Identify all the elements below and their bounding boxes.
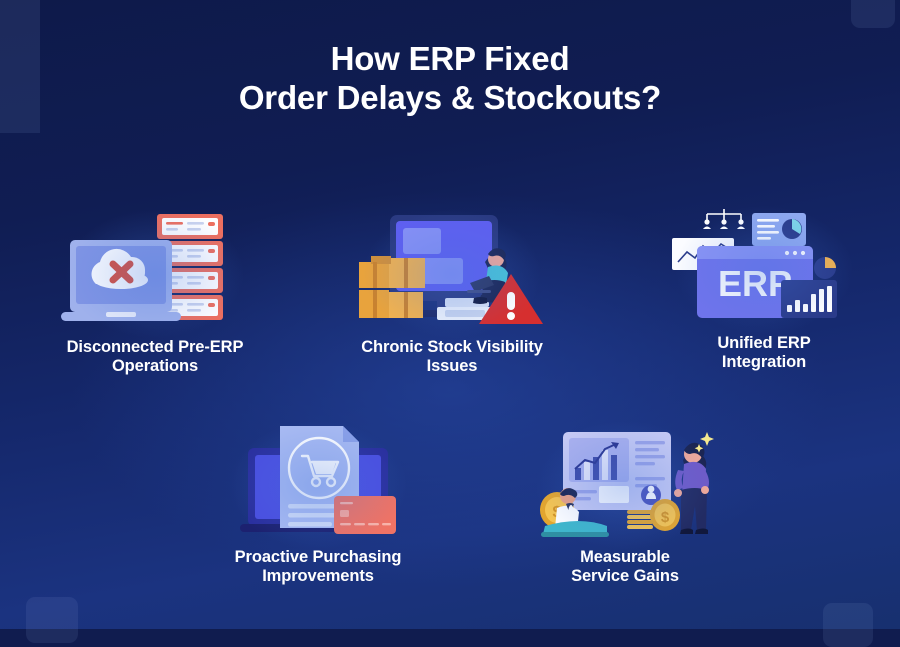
card-label: Disconnected Pre-ERP Operations bbox=[30, 338, 280, 377]
card-label: Proactive Purchasing Improvements bbox=[193, 548, 443, 587]
laptop-cloud-error-server-stack-icon bbox=[60, 212, 250, 332]
page-title: How ERP Fixed Order Delays & Stockouts? bbox=[0, 40, 900, 118]
erp-window-text: ERP bbox=[718, 263, 792, 304]
sparkle-icon bbox=[695, 432, 714, 453]
page-title-line-2: Order Delays & Stockouts? bbox=[0, 79, 900, 118]
dashboard-growth-chart-coins-people-icon: $ $ bbox=[535, 424, 715, 542]
standing-woman-icon bbox=[674, 443, 709, 534]
monitor-boxes-warning-icon bbox=[357, 212, 547, 332]
infographic-canvas: How ERP Fixed Order Delays & Stockouts? bbox=[0, 0, 900, 629]
card-disconnected-pre-erp-operations[interactable]: Disconnected Pre-ERP Operations bbox=[30, 212, 280, 377]
dashboard-panel-icon bbox=[563, 432, 671, 510]
org-chart-icon bbox=[703, 209, 745, 229]
decorative-corner-shape-bottom-right bbox=[823, 603, 873, 647]
card-measurable-service-gains[interactable]: $ $ bbox=[500, 424, 750, 587]
pie-accent-icon bbox=[814, 257, 836, 279]
credit-card-icon bbox=[334, 496, 396, 534]
card-label: Chronic Stock Visibility Issues bbox=[327, 338, 577, 377]
laptop-cloud-error-icon bbox=[61, 240, 181, 321]
svg-text:$: $ bbox=[661, 509, 670, 526]
card-label: Unified ERP Integration bbox=[639, 334, 889, 373]
coin-stack-icon bbox=[627, 510, 653, 529]
pie-chart-widget-icon bbox=[752, 213, 806, 246]
card-unified-erp-integration[interactable]: ERP bbox=[639, 208, 889, 373]
decorative-corner-shape-bottom-left bbox=[26, 597, 78, 643]
page-title-line-1: How ERP Fixed bbox=[0, 40, 900, 79]
decorative-corner-shape-top-right bbox=[851, 0, 895, 28]
cardboard-boxes-icon bbox=[359, 256, 425, 318]
card-proactive-purchasing-improvements[interactable]: Proactive Purchasing Improvements bbox=[193, 424, 443, 587]
card-label: Measurable Service Gains bbox=[500, 548, 750, 587]
erp-browser-window-charts-icon: ERP bbox=[669, 208, 859, 328]
laptop-invoice-cart-credit-card-icon bbox=[228, 424, 408, 542]
gold-coin-right-icon: $ bbox=[650, 499, 680, 531]
card-chronic-stock-visibility-issues[interactable]: Chronic Stock Visibility Issues bbox=[327, 212, 577, 377]
bar-chart-widget-icon bbox=[781, 280, 837, 318]
